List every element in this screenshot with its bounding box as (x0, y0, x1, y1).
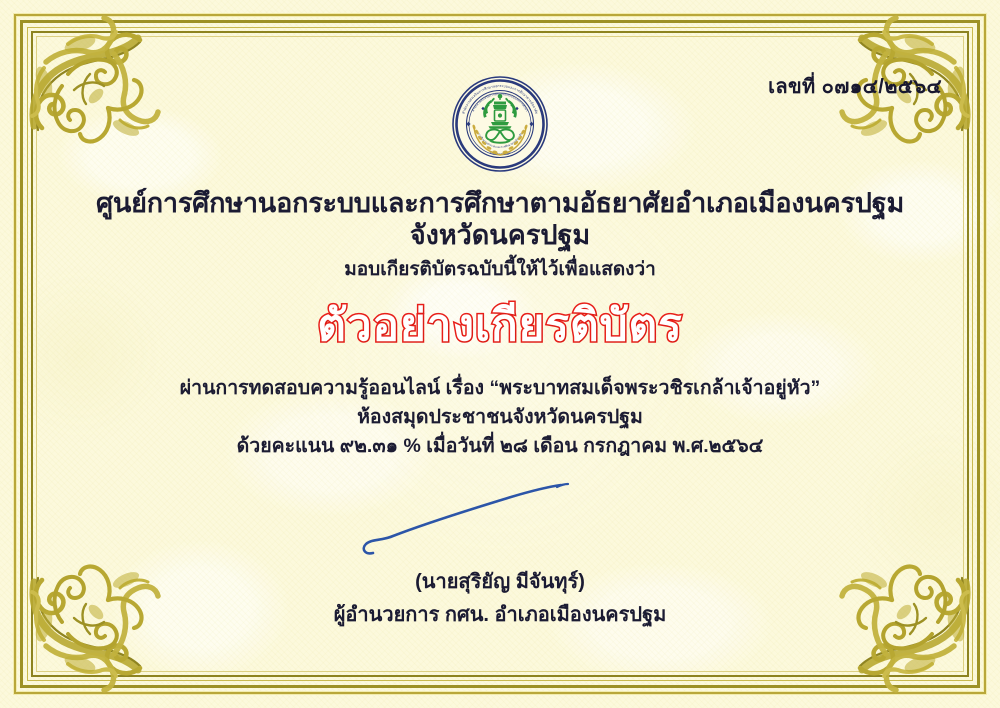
recipient-name: ตัวอย่างเกียรติบัตร (317, 304, 682, 348)
organization-name-line-2: จังหวัดนครปฐม (410, 220, 590, 252)
signer-name: (นายสุริยัญ มีจันทุร์) (415, 565, 585, 597)
achievement-line-1: ผ่านการทดสอบความรู้ออนไลน์ เรื่อง “พระบา… (180, 374, 821, 403)
official-seal-emblem: สำนักงานส่งเสริมการศึกษานอกระบบและการศึก… (450, 74, 550, 174)
signature-area (335, 479, 665, 565)
certificate: เลขที่ ๐๗๑๔/๒๕๖๔ สำนักงานส่งเสริมการศึกษ… (0, 0, 1000, 708)
achievement-line-3: ด้วยคะแนน ๙๒.๓๑ % เมื่อวันที่ ๒๘ เดือน ก… (237, 432, 764, 461)
handwritten-signature (335, 479, 665, 565)
award-intro-text: มอบเกียรติบัตรฉบับนี้ให้ไว้เพื่อแสดงว่า (344, 254, 656, 284)
certificate-content: เลขที่ ๐๗๑๔/๒๕๖๔ สำนักงานส่งเสริมการศึกษ… (46, 44, 954, 664)
achievement-line-2: ห้องสมุดประชาชนจังหวัดนครปฐม (357, 403, 643, 432)
signer-title: ผู้อำนวยการ กศน. อำเภอเมืองนครปฐม (334, 598, 667, 630)
document-number: เลขที่ ๐๗๑๔/๒๕๖๔ (768, 70, 942, 102)
organization-name-line-1: ศูนย์การศึกษานอกระบบและการศึกษาตามอัธยาศ… (96, 188, 904, 220)
